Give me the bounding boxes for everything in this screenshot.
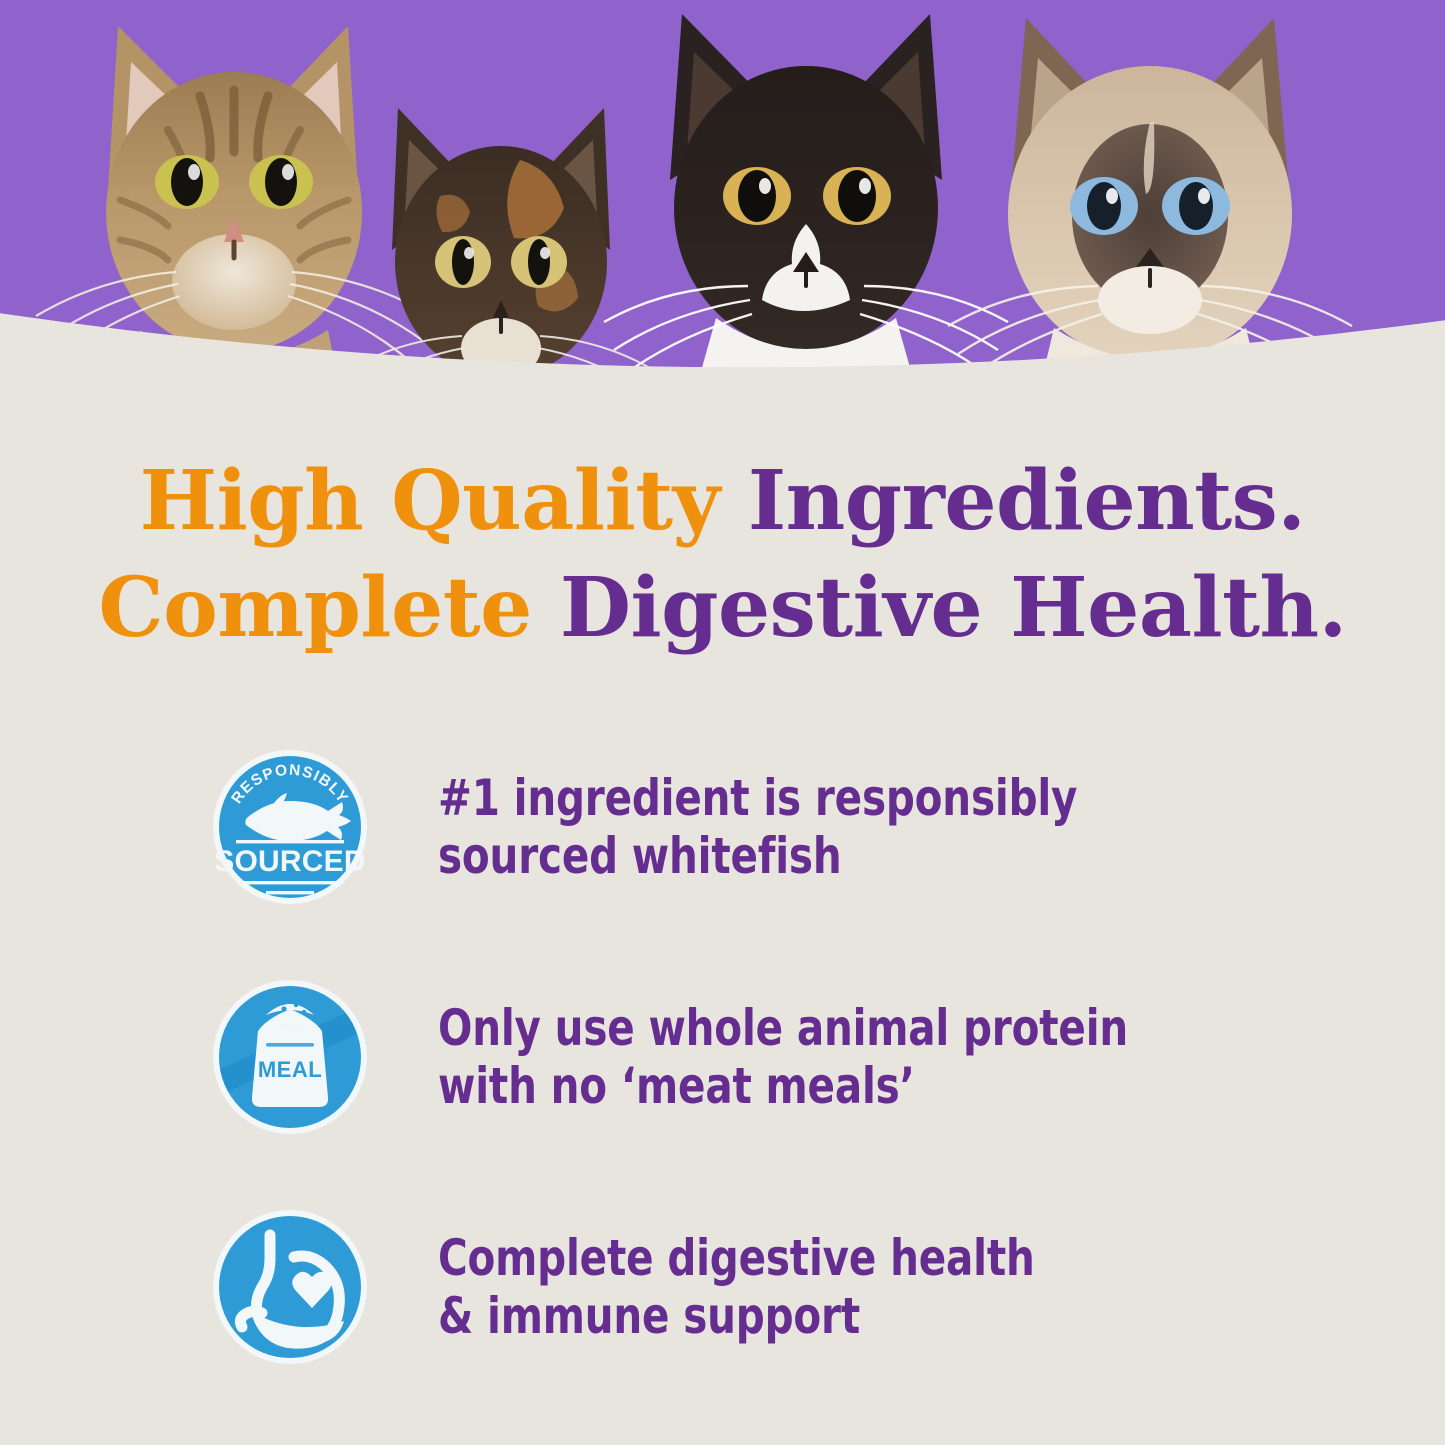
cat-brown-tabby [36, 26, 432, 400]
cat-tortoiseshell-kitten [342, 108, 660, 400]
page-title: High Quality Ingredients. Complete Diges… [0, 448, 1445, 661]
feature-item-digestive-health: Complete digestive health & immune suppo… [0, 1172, 1445, 1402]
meal-bag-label: MEAL [258, 1057, 322, 1082]
responsibly-sourced-fish-badge-icon: RESPONSIBLY SOURCED [208, 745, 372, 909]
feature-text-digestive-health: Complete digestive health & immune suppo… [438, 1229, 1344, 1345]
headline-line-2: Complete Digestive Health. [0, 555, 1445, 662]
no-meat-meal-bag-icon: MEAL [208, 975, 372, 1139]
cat-seal-point-ragdoll [948, 18, 1352, 400]
cat-tuxedo [604, 14, 1008, 400]
feature-item-responsibly-sourced: RESPONSIBLY SOURCED #1 ingredient is res… [0, 712, 1445, 942]
feature-text-responsibly-sourced: #1 ingredient is responsibly sourced whi… [438, 769, 1344, 885]
product-feature-panel: High Quality Ingredients. Complete Diges… [0, 0, 1445, 1445]
hero-banner [0, 0, 1445, 400]
feature-list: RESPONSIBLY SOURCED #1 ingredient is res… [0, 712, 1445, 1402]
headline-line-1-purple: Ingredients. [748, 453, 1306, 549]
headline-line-2-purple: Digestive Health. [560, 560, 1347, 656]
stomach-heart-digestive-health-icon [208, 1205, 372, 1369]
feature-text-no-meat-meals: Only use whole animal protein with no ‘m… [438, 999, 1344, 1115]
headline-line-1-orange: High Quality [140, 453, 748, 549]
badge-main-text: SOURCED [214, 845, 365, 878]
feature-item-no-meat-meals: MEAL Only use whole animal protein with … [0, 942, 1445, 1172]
headline-line-1: High Quality Ingredients. [0, 448, 1445, 555]
headline-line-2-orange: Complete [98, 560, 559, 656]
hero-cat-photos [0, 0, 1445, 400]
